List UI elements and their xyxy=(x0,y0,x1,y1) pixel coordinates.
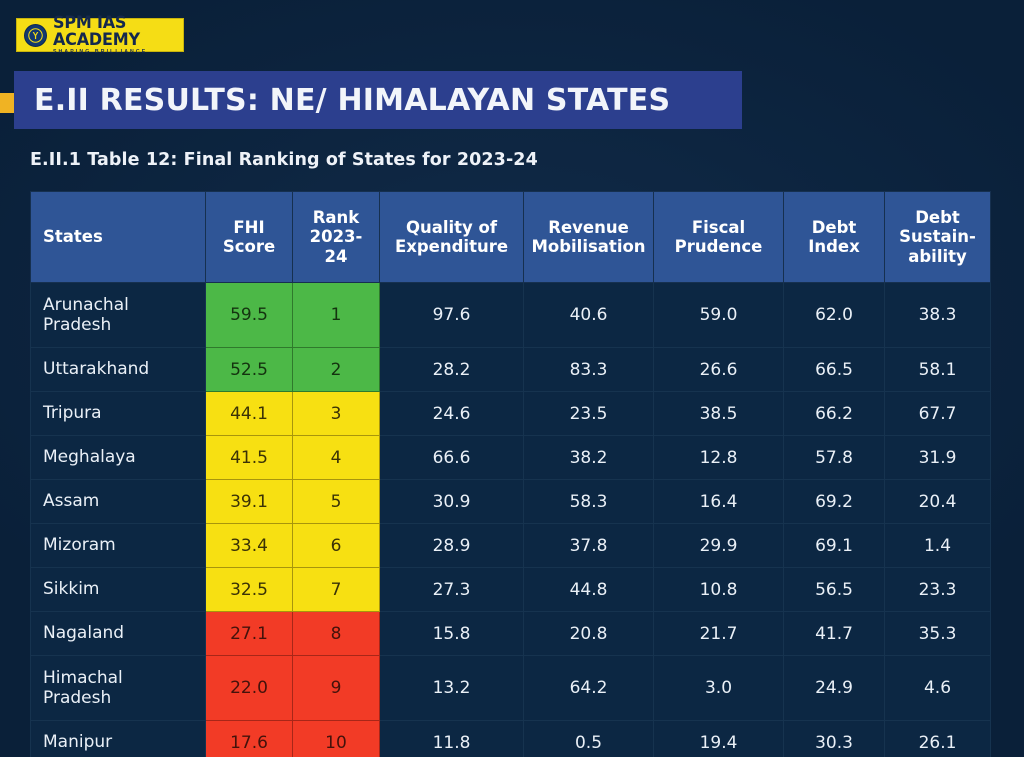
table-row: Sikkim32.5727.344.810.856.523.3 xyxy=(31,568,991,612)
table-row: Assam39.1530.958.316.469.220.4 xyxy=(31,480,991,524)
cell-state: Uttarakhand xyxy=(31,348,206,392)
table-header-row: StatesFHIScoreRank2023-24Quality ofExpen… xyxy=(31,192,991,283)
cell-revenue-mobilisation: 58.3 xyxy=(524,480,654,524)
shield-monogram-icon xyxy=(24,24,47,47)
cell-rank: 10 xyxy=(293,721,380,757)
cell-fhi-score: 59.5 xyxy=(206,283,293,348)
cell-quality-of-expenditure: 27.3 xyxy=(380,568,524,612)
cell-quality-of-expenditure: 24.6 xyxy=(380,392,524,436)
cell-fiscal-prudence: 59.0 xyxy=(654,283,784,348)
cell-debt-index: 30.3 xyxy=(784,721,885,757)
cell-state: Sikkim xyxy=(31,568,206,612)
cell-debt-index: 56.5 xyxy=(784,568,885,612)
cell-fiscal-prudence: 12.8 xyxy=(654,436,784,480)
table-row: Uttarakhand52.5228.283.326.666.558.1 xyxy=(31,348,991,392)
cell-rank: 4 xyxy=(293,436,380,480)
cell-quality-of-expenditure: 28.9 xyxy=(380,524,524,568)
cell-quality-of-expenditure: 11.8 xyxy=(380,721,524,757)
cell-revenue-mobilisation: 20.8 xyxy=(524,612,654,656)
cell-revenue-mobilisation: 83.3 xyxy=(524,348,654,392)
cell-fiscal-prudence: 26.6 xyxy=(654,348,784,392)
cell-revenue-mobilisation: 44.8 xyxy=(524,568,654,612)
cell-revenue-mobilisation: 64.2 xyxy=(524,656,654,721)
cell-quality-of-expenditure: 30.9 xyxy=(380,480,524,524)
cell-fiscal-prudence: 3.0 xyxy=(654,656,784,721)
table-row: Meghalaya41.5466.638.212.857.831.9 xyxy=(31,436,991,480)
cell-debt-index: 66.5 xyxy=(784,348,885,392)
cell-fiscal-prudence: 10.8 xyxy=(654,568,784,612)
table-row: Tripura44.1324.623.538.566.267.7 xyxy=(31,392,991,436)
table-row: HimachalPradesh22.0913.264.23.024.94.6 xyxy=(31,656,991,721)
cell-quality-of-expenditure: 28.2 xyxy=(380,348,524,392)
cell-quality-of-expenditure: 13.2 xyxy=(380,656,524,721)
cell-debt-sustainability: 4.6 xyxy=(885,656,991,721)
column-header-rank-2023-24: Rank2023-24 xyxy=(293,192,380,283)
table-caption: E.II.1 Table 12: Final Ranking of States… xyxy=(30,150,538,170)
cell-fhi-score: 17.6 xyxy=(206,721,293,757)
table-row: Mizoram33.4628.937.829.969.11.4 xyxy=(31,524,991,568)
cell-revenue-mobilisation: 40.6 xyxy=(524,283,654,348)
brand-name: SPM IAS ACADEMY xyxy=(53,14,183,49)
ranking-table: StatesFHIScoreRank2023-24Quality ofExpen… xyxy=(30,191,991,757)
cell-debt-sustainability: 23.3 xyxy=(885,568,991,612)
cell-quality-of-expenditure: 66.6 xyxy=(380,436,524,480)
cell-fhi-score: 44.1 xyxy=(206,392,293,436)
cell-fhi-score: 39.1 xyxy=(206,480,293,524)
cell-debt-sustainability: 35.3 xyxy=(885,612,991,656)
cell-debt-index: 69.2 xyxy=(784,480,885,524)
cell-state: Manipur xyxy=(31,721,206,757)
cell-rank: 8 xyxy=(293,612,380,656)
cell-revenue-mobilisation: 0.5 xyxy=(524,721,654,757)
cell-debt-index: 66.2 xyxy=(784,392,885,436)
cell-rank: 6 xyxy=(293,524,380,568)
cell-revenue-mobilisation: 37.8 xyxy=(524,524,654,568)
cell-state: Assam xyxy=(31,480,206,524)
page-title: E.II RESULTS: NE/ HIMALAYAN STATES xyxy=(34,83,670,118)
cell-debt-sustainability: 26.1 xyxy=(885,721,991,757)
column-header-debt-index: DebtIndex xyxy=(784,192,885,283)
cell-debt-sustainability: 1.4 xyxy=(885,524,991,568)
cell-state: Tripura xyxy=(31,392,206,436)
cell-debt-index: 24.9 xyxy=(784,656,885,721)
ranking-table-container: StatesFHIScoreRank2023-24Quality ofExpen… xyxy=(30,191,990,757)
cell-quality-of-expenditure: 15.8 xyxy=(380,612,524,656)
cell-revenue-mobilisation: 38.2 xyxy=(524,436,654,480)
cell-fhi-score: 22.0 xyxy=(206,656,293,721)
column-header-revenue-mobilisation: RevenueMobilisation xyxy=(524,192,654,283)
cell-fhi-score: 33.4 xyxy=(206,524,293,568)
column-header-debt-sustain-ability: DebtSustain-ability xyxy=(885,192,991,283)
cell-debt-index: 57.8 xyxy=(784,436,885,480)
cell-state: Mizoram xyxy=(31,524,206,568)
cell-quality-of-expenditure: 97.6 xyxy=(380,283,524,348)
cell-rank: 7 xyxy=(293,568,380,612)
cell-debt-index: 41.7 xyxy=(784,612,885,656)
cell-fiscal-prudence: 29.9 xyxy=(654,524,784,568)
table-body: ArunachalPradesh59.5197.640.659.062.038.… xyxy=(31,283,991,757)
cell-state: Nagaland xyxy=(31,612,206,656)
cell-fiscal-prudence: 16.4 xyxy=(654,480,784,524)
cell-debt-index: 69.1 xyxy=(784,524,885,568)
cell-debt-sustainability: 38.3 xyxy=(885,283,991,348)
brand-logo: SPM IAS ACADEMY SHAPING BRILLIANCE xyxy=(16,18,184,52)
table-header: StatesFHIScoreRank2023-24Quality ofExpen… xyxy=(31,192,991,283)
table-row: Nagaland27.1815.820.821.741.735.3 xyxy=(31,612,991,656)
cell-fiscal-prudence: 19.4 xyxy=(654,721,784,757)
cell-state: Meghalaya xyxy=(31,436,206,480)
title-banner: E.II RESULTS: NE/ HIMALAYAN STATES xyxy=(14,71,742,129)
cell-fhi-score: 27.1 xyxy=(206,612,293,656)
cell-fhi-score: 52.5 xyxy=(206,348,293,392)
cell-debt-sustainability: 67.7 xyxy=(885,392,991,436)
cell-debt-sustainability: 58.1 xyxy=(885,348,991,392)
cell-debt-sustainability: 31.9 xyxy=(885,436,991,480)
column-header-quality-of-expenditure: Quality ofExpenditure xyxy=(380,192,524,283)
brand-tagline: SHAPING BRILLIANCE xyxy=(53,50,183,55)
cell-fhi-score: 41.5 xyxy=(206,436,293,480)
cell-state: ArunachalPradesh xyxy=(31,283,206,348)
cell-revenue-mobilisation: 23.5 xyxy=(524,392,654,436)
cell-rank: 5 xyxy=(293,480,380,524)
cell-fiscal-prudence: 38.5 xyxy=(654,392,784,436)
table-row: Manipur17.61011.80.519.430.326.1 xyxy=(31,721,991,757)
table-row: ArunachalPradesh59.5197.640.659.062.038.… xyxy=(31,283,991,348)
cell-debt-index: 62.0 xyxy=(784,283,885,348)
cell-rank: 2 xyxy=(293,348,380,392)
cell-fiscal-prudence: 21.7 xyxy=(654,612,784,656)
column-header-fhi-score: FHIScore xyxy=(206,192,293,283)
cell-fhi-score: 32.5 xyxy=(206,568,293,612)
cell-debt-sustainability: 20.4 xyxy=(885,480,991,524)
cell-rank: 9 xyxy=(293,656,380,721)
cell-state: HimachalPradesh xyxy=(31,656,206,721)
cell-rank: 3 xyxy=(293,392,380,436)
column-header-states: States xyxy=(31,192,206,283)
cell-rank: 1 xyxy=(293,283,380,348)
column-header-fiscal-prudence: FiscalPrudence xyxy=(654,192,784,283)
